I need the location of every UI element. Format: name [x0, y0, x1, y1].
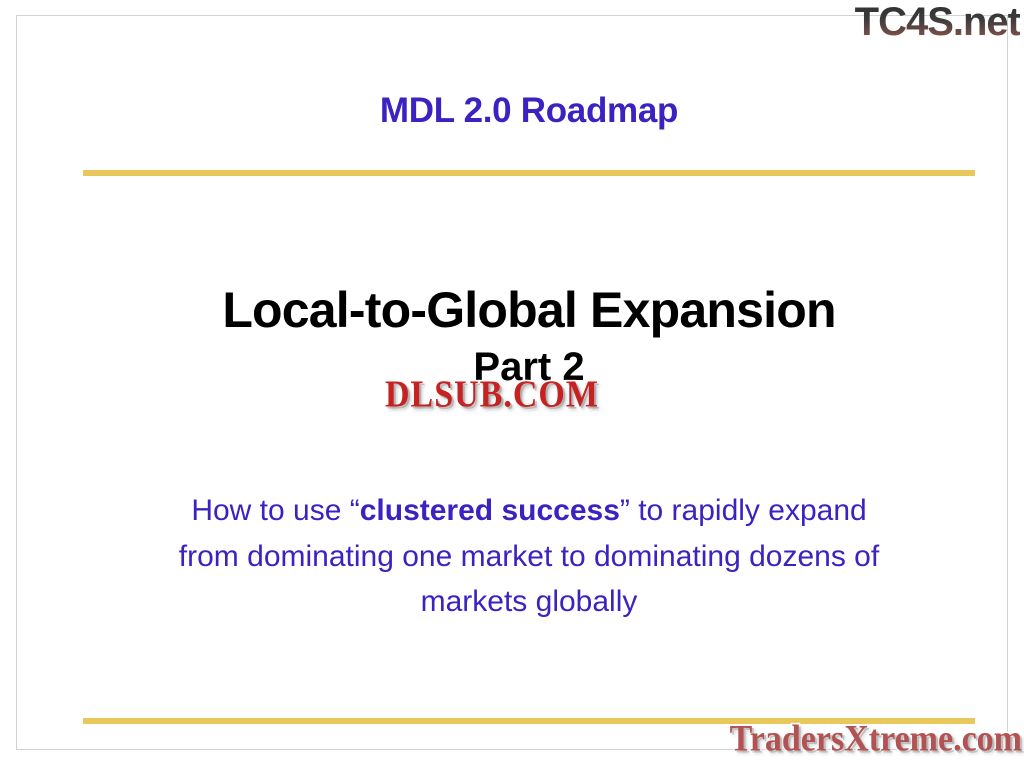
body-lead-text: How to use “ [191, 494, 359, 527]
heading-primary: Local-to-Global Expansion [57, 284, 1001, 337]
body-emphasis-text: clustered success [360, 494, 620, 527]
slide-canvas: MDL 2.0 Roadmap Local-to-Global Expansio… [16, 15, 1008, 750]
page-title: MDL 2.0 Roadmap [83, 92, 975, 131]
divider-top [83, 170, 975, 176]
divider-bottom [83, 718, 975, 724]
slide-root: MDL 2.0 Roadmap Local-to-Global Expansio… [0, 0, 1024, 768]
body-paragraph: How to use “clustered success” to rapidl… [167, 488, 891, 625]
heading-block: Local-to-Global Expansion Part 2 [57, 284, 1001, 391]
heading-secondary: Part 2 [57, 343, 1001, 391]
